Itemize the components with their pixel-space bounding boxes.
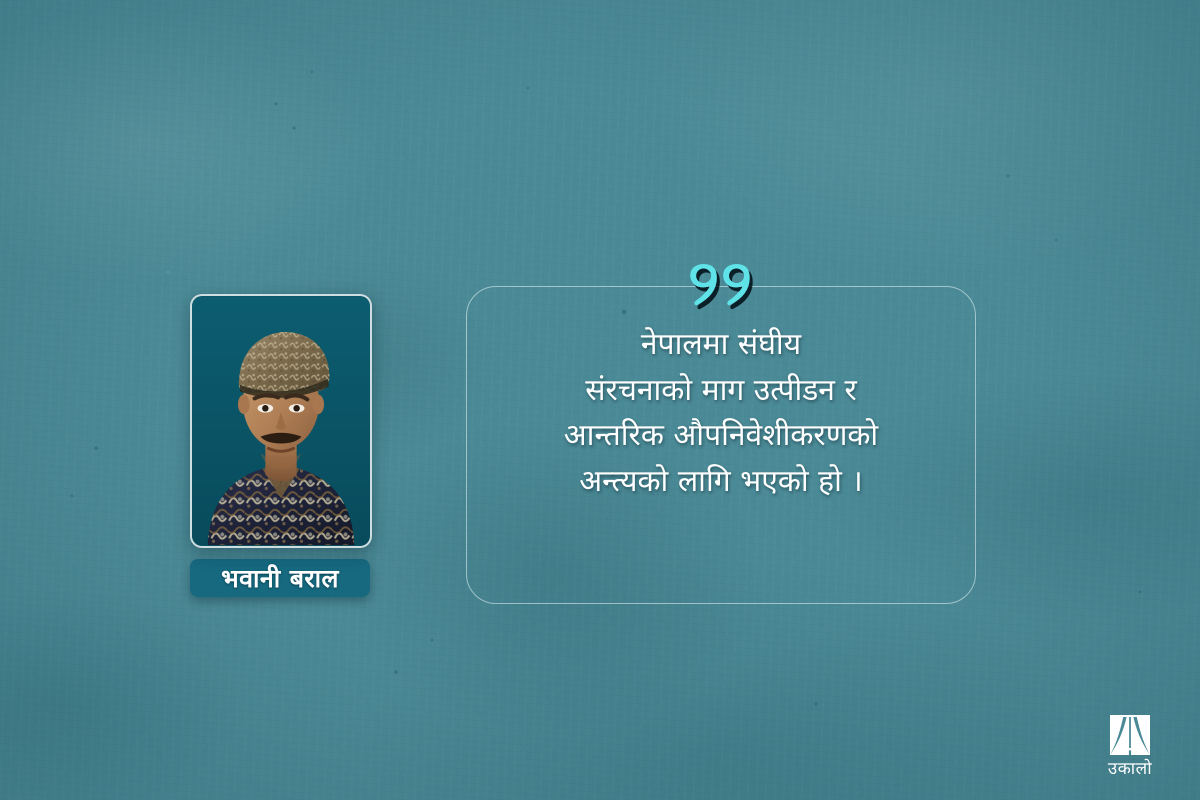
ukaalo-wordmark: उकालो bbox=[1086, 761, 1174, 778]
portrait-frame bbox=[190, 294, 372, 548]
ukaalo-road-mark-icon bbox=[1107, 712, 1153, 758]
name-badge: भवानी बराल bbox=[190, 559, 370, 597]
quote-card-graphic: भवानी बराल ୨୨ नेपालमा संघीय संरचनाको माग… bbox=[0, 0, 1200, 800]
quote-text: नेपालमा संघीय संरचनाको माग उत्पीडन र आन्… bbox=[466, 322, 976, 504]
portrait-photo bbox=[192, 296, 370, 546]
open-quote-icon: ୨୨ bbox=[466, 252, 976, 314]
portrait-block: भवानी बराल bbox=[190, 294, 372, 597]
name-badge-label: भवानी बराल bbox=[221, 566, 339, 591]
ukaalo-logo: उकालो bbox=[1086, 712, 1174, 778]
